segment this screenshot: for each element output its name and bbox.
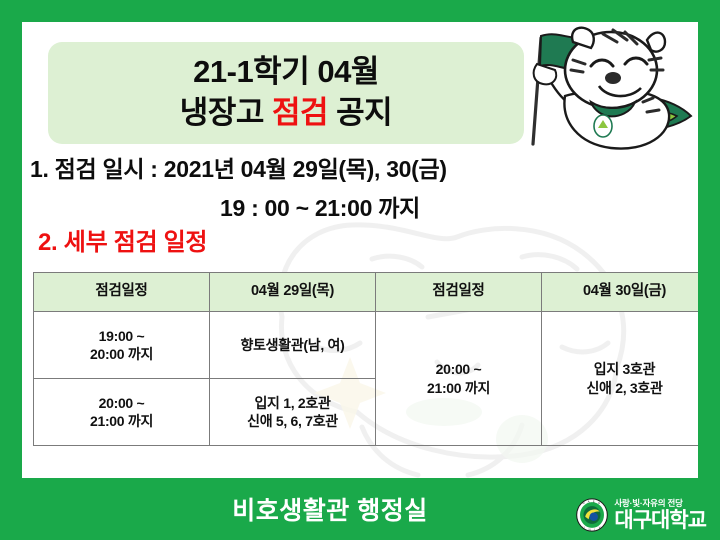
cell-time-row1-line1: 19:00 ~ (36, 327, 207, 345)
title-banner: 21-1학기 04월 냉장고 점검 공지 (48, 42, 524, 144)
title-highlight: 점검 (272, 95, 328, 130)
cell-place-row1-line1: 향토생활관(남, 여) (212, 336, 373, 354)
svg-text:U: U (583, 526, 585, 530)
cell-place-row2-line2: 신애 5, 6, 7호관 (212, 412, 373, 430)
table-row: 19:00 ~ 20:00 까지 향토생활관(남, 여) 20:00 ~ 21:… (34, 312, 699, 379)
cell-time-row2-line2: 21:00 까지 (36, 412, 207, 430)
svg-text:D: D (583, 501, 585, 505)
detail-schedule-heading: 2. 세부 점검 일정 (38, 222, 207, 257)
cell-place-row2-line1: 입지 1, 2호관 (212, 394, 373, 412)
title-prefix: 냉장고 (180, 95, 272, 130)
table-header-row: 점검일정 04월 29일(목) 점검일정 04월 30일(금) (34, 273, 699, 312)
white-tiger-mascot-icon (507, 22, 698, 156)
header-cell-date-29: 04월 29일(목) (210, 273, 376, 312)
cell-time-row2-line1: 20:00 ~ (36, 394, 207, 412)
cell-time-row2: 20:00 ~ 21:00 까지 (34, 379, 210, 446)
logo-name: 대구대학교 (614, 510, 706, 531)
daegu-university-emblem-icon: DAEG UNIV (575, 498, 609, 532)
notice-poster: 21-1학기 04월 냉장고 점검 공지 (0, 0, 720, 540)
university-logo-text: 사랑·빛·자유의 전당 대구대학교 (614, 499, 706, 531)
cell-time-row1-line2: 20:00 까지 (36, 345, 207, 363)
cell-time-merged-right: 20:00 ~ 21:00 까지 (376, 312, 542, 446)
svg-text:A: A (588, 499, 590, 503)
svg-text:G: G (598, 501, 600, 505)
poster-canvas: 21-1학기 04월 냉장고 점검 공지 (22, 22, 698, 478)
header-cell-schedule-1: 점검일정 (34, 273, 210, 312)
footer-office-label: 비호생활관 행정실 (232, 491, 427, 527)
cell-time-merged-line1: 20:00 ~ (378, 360, 539, 378)
svg-text:V: V (599, 526, 601, 530)
cell-place-row1: 향토생활관(남, 여) (210, 312, 376, 379)
svg-text:E: E (593, 499, 595, 503)
cell-time-merged-line2: 21:00 까지 (378, 379, 539, 397)
cell-place-merged-line2: 신애 2, 3호관 (544, 379, 698, 397)
frame-right-bar (698, 22, 720, 478)
header-cell-date-30: 04월 30일(금) (542, 273, 699, 312)
cell-place-merged-right: 입지 3호관 신애 2, 3호관 (542, 312, 699, 446)
inspection-datetime-block: 1. 점검 일시 : 2021년 04월 29일(목), 30(금) 19 : … (30, 150, 690, 223)
title-line-2: 냉장고 점검 공지 (180, 93, 392, 134)
title-line-1: 21-1학기 04월 (193, 52, 379, 93)
schedule-table: 점검일정 04월 29일(목) 점검일정 04월 30일(금) 19:00 ~ … (33, 272, 698, 446)
svg-text:N: N (589, 527, 591, 531)
inspection-time-line: 19 : 00 ~ 21:00 까지 (30, 189, 690, 223)
title-suffix: 공지 (328, 95, 392, 130)
cell-place-row2: 입지 1, 2호관 신애 5, 6, 7호관 (210, 379, 376, 446)
header-cell-schedule-2: 점검일정 (376, 273, 542, 312)
cell-time-row1: 19:00 ~ 20:00 까지 (34, 312, 210, 379)
inspection-date-line: 1. 점검 일시 : 2021년 04월 29일(목), 30(금) (30, 150, 690, 184)
logo-tagline: 사랑·빛·자유의 전당 (614, 499, 706, 508)
frame-left-bar (0, 22, 22, 478)
frame-top-bar (0, 0, 720, 22)
schedule-table-wrapper: 점검일정 04월 29일(목) 점검일정 04월 30일(금) 19:00 ~ … (33, 272, 687, 446)
university-logo: DAEG UNIV 사랑·빛·자유의 전당 대구대학교 (575, 498, 706, 532)
cell-place-merged-line1: 입지 3호관 (544, 360, 698, 378)
